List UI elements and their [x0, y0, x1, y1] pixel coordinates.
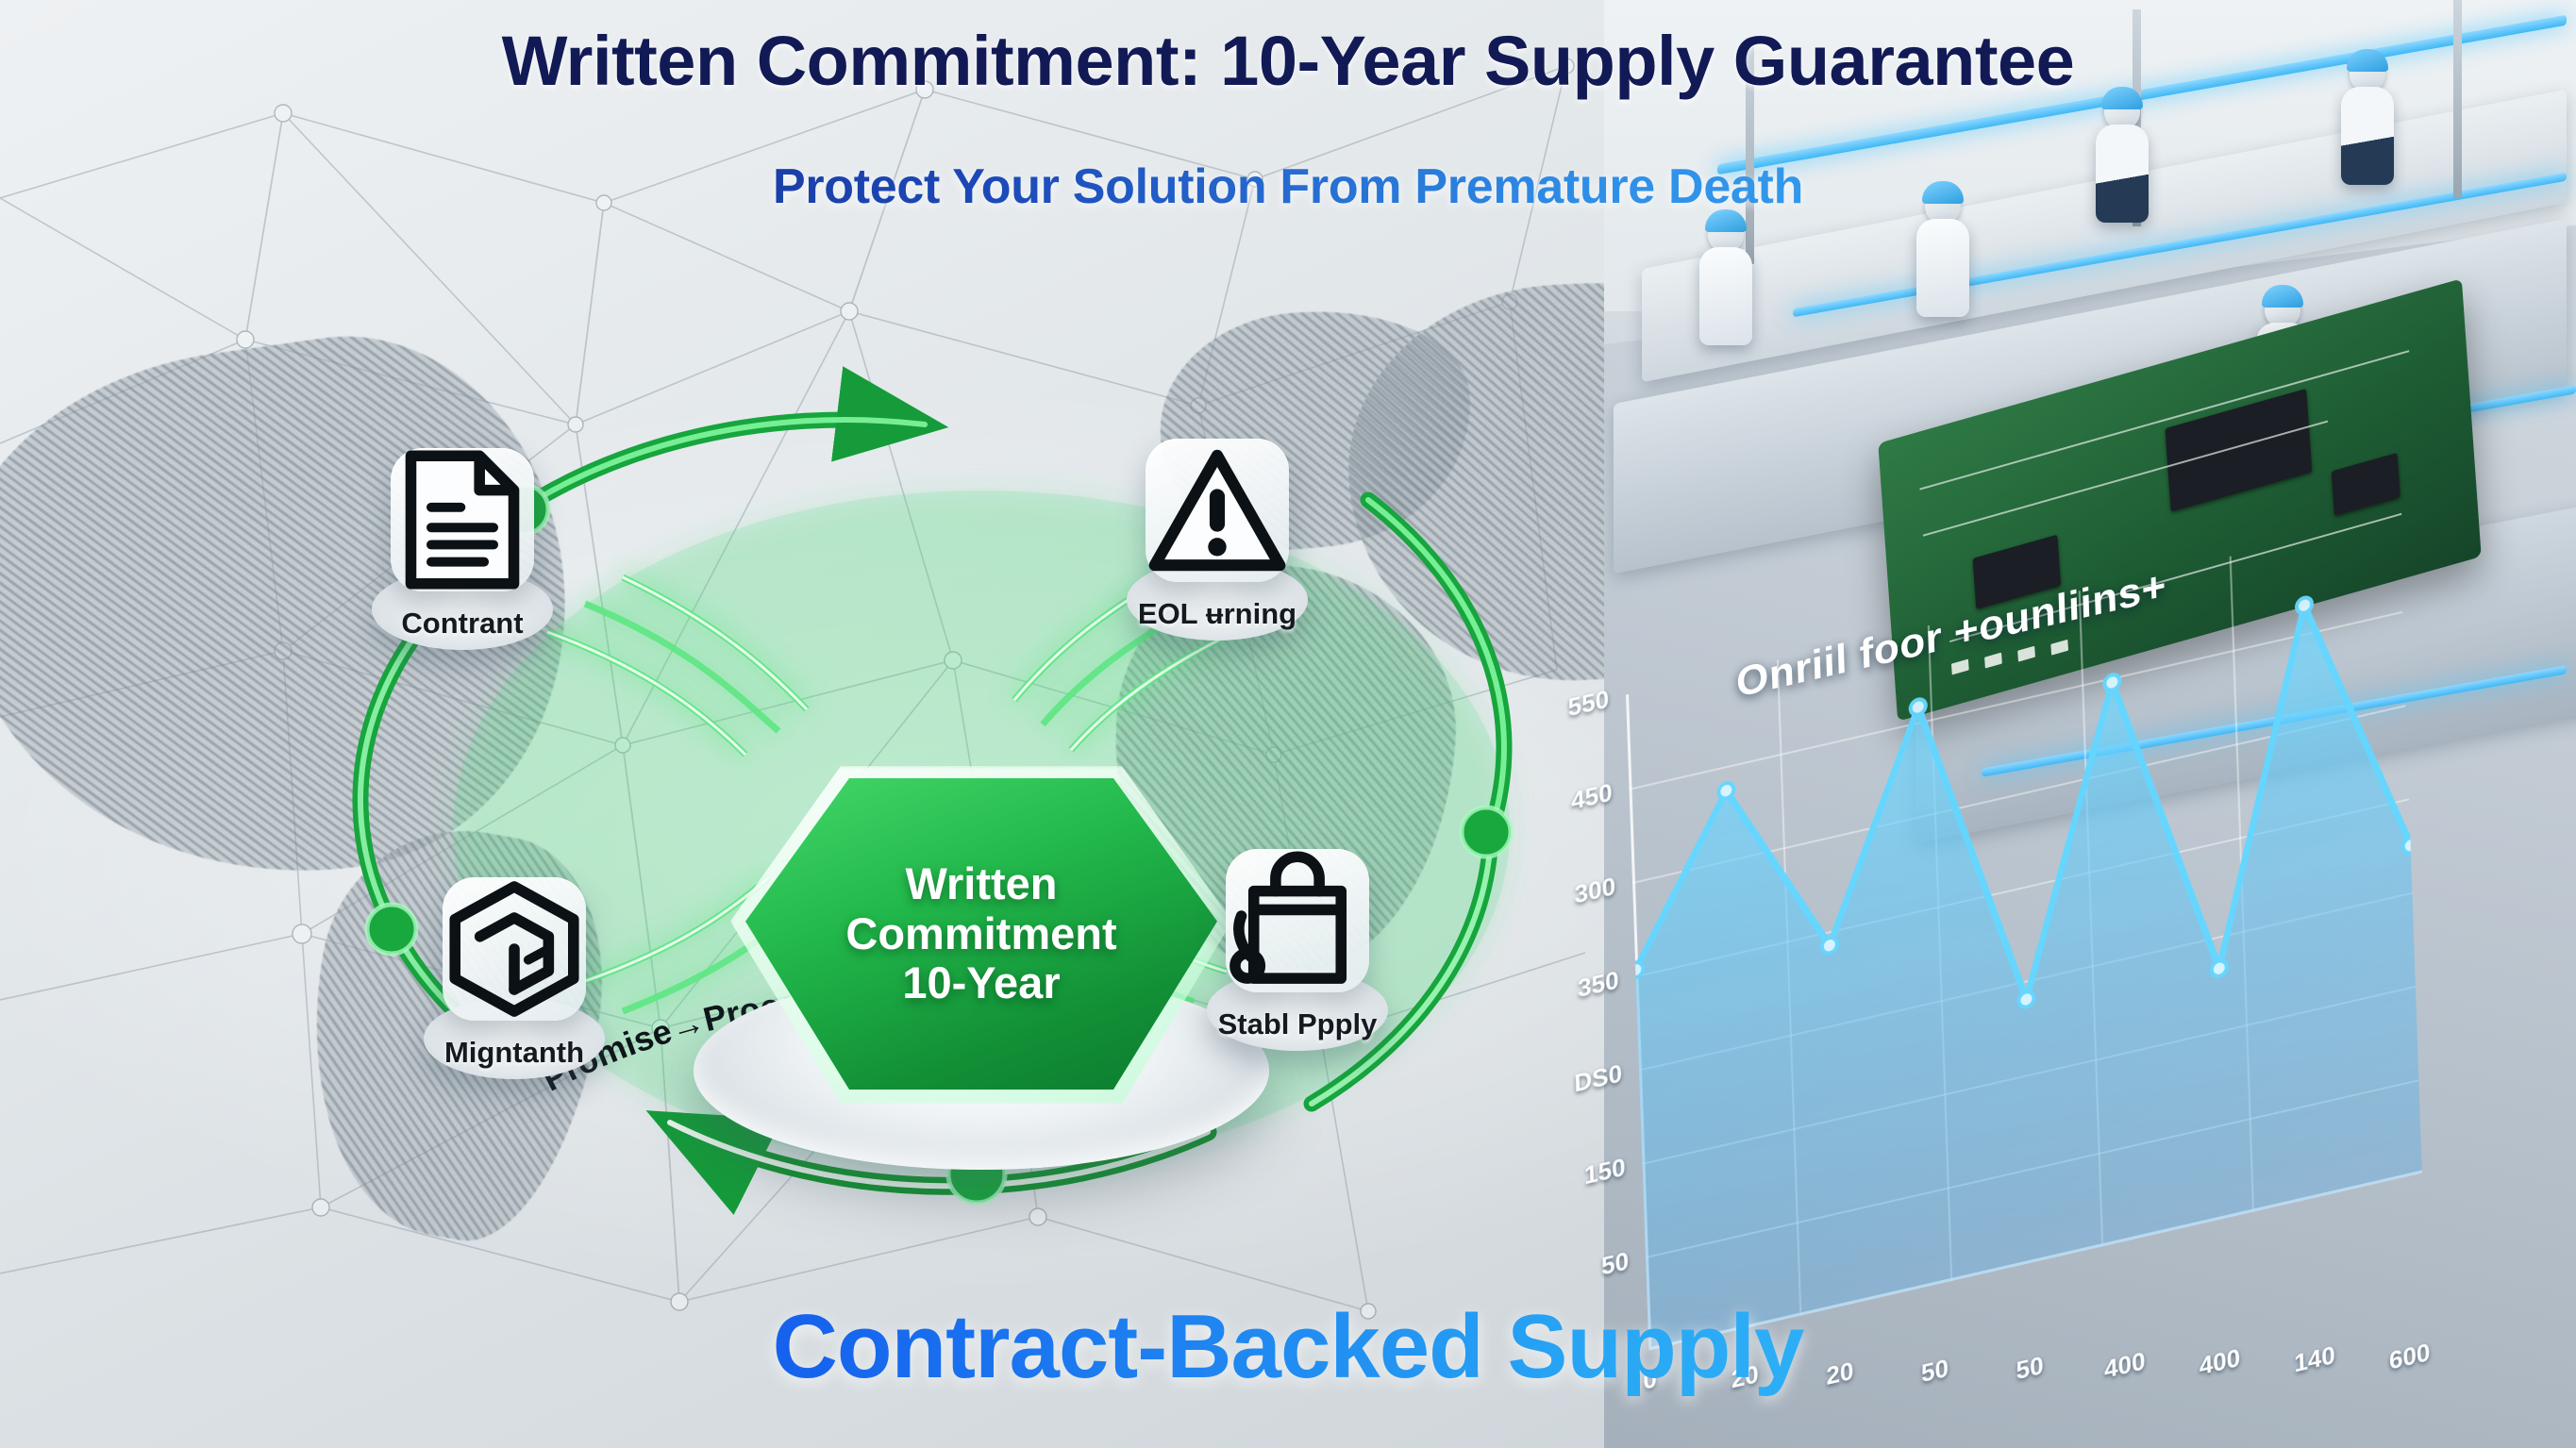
node-eol-warning[interactable]: EOL ʉrning [1113, 439, 1321, 631]
page-subtitle: Protect Your Solution From Premature Dea… [0, 158, 2576, 215]
infographic-canvas: Onriil foor +ounliins+ [0, 0, 2576, 1448]
bag-lock-icon [1226, 849, 1369, 992]
node-migration[interactable]: Migntanth [410, 877, 618, 1070]
node-migration-label: Migntanth [410, 1036, 618, 1070]
warning-triangle-icon [1146, 439, 1289, 582]
node-eol-warning-card[interactable] [1146, 439, 1289, 582]
node-contract-card[interactable] [391, 448, 534, 591]
node-stable-supply-label: Stabl Ppply [1194, 1007, 1401, 1041]
document-icon [391, 448, 534, 591]
cube-box-icon [443, 877, 586, 1021]
hub-badge-line2: Commitment [845, 909, 1116, 959]
hub-badge-line1: Written [845, 859, 1116, 909]
node-eol-warning-label: EOL ʉrning [1113, 597, 1321, 631]
node-contract-label: Contrant [359, 607, 566, 641]
footer-headline: Contract-Backed Supply [0, 1295, 2576, 1399]
process-ring-diagram: Promise→Process→Guarantee→Value Written … [142, 226, 1651, 1226]
factory-worker-1 [1708, 217, 1752, 345]
hub-badge-text: Written Commitment 10-Year [845, 859, 1116, 1008]
chart-ytick-0: 50 [1601, 1246, 1630, 1281]
node-stable-supply-card[interactable] [1226, 849, 1369, 992]
hub-badge-line3: 10-Year [845, 958, 1116, 1008]
page-title: Written Commitment: 10-Year Supply Guara… [0, 21, 2576, 101]
node-stable-supply[interactable]: Stabl Ppply [1194, 849, 1401, 1041]
node-migration-card[interactable] [443, 877, 586, 1021]
node-contract[interactable]: Contrant [359, 448, 566, 641]
